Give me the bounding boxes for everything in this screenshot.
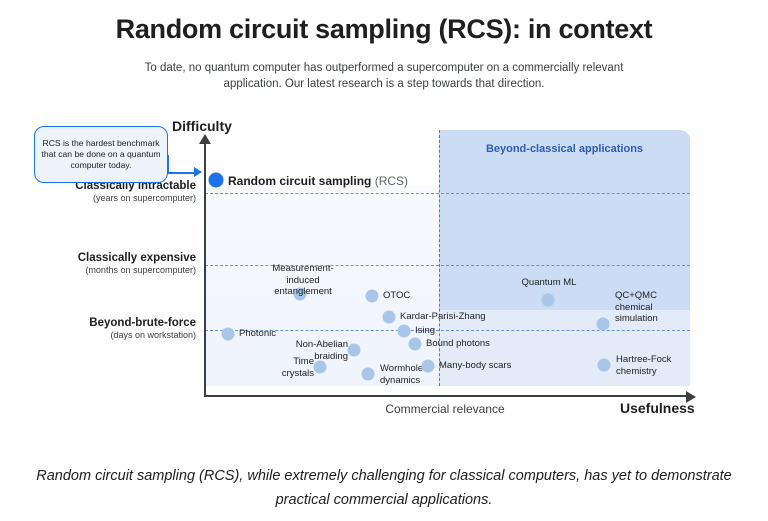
callout-arrow-icon <box>194 167 202 177</box>
data-point-label: OTOC <box>383 290 433 302</box>
data-point-label: Photonic <box>239 328 299 340</box>
y-tier-2-sublabel: (days on workstation) <box>0 330 196 340</box>
data-point-label: Measurement-induced entanglement <box>258 263 348 298</box>
gridline-0 <box>205 193 690 194</box>
slide-root: Random circuit sampling (RCS): in contex… <box>0 0 768 521</box>
figure-caption: Random circuit sampling (RCS), while ext… <box>24 464 744 512</box>
data-point[interactable] <box>422 360 435 373</box>
callout-connector-horizontal <box>168 172 196 174</box>
data-point[interactable] <box>598 359 611 372</box>
callout-box: RCS is the hardest benchmark that can be… <box>34 126 168 183</box>
beyond-classical-label: Beyond-classical applications <box>439 143 690 155</box>
x-axis-line <box>204 395 688 397</box>
y-tier-2: Beyond-brute-force(days on workstation) <box>0 317 196 340</box>
data-point-label: Quantum ML <box>518 277 580 289</box>
rcs-label-bold: Random circuit sampling <box>228 174 371 188</box>
y-tier-2-label: Beyond-brute-force <box>0 317 196 329</box>
page-title: Random circuit sampling (RCS): in contex… <box>0 14 768 45</box>
data-point-label: Bound photons <box>426 338 506 350</box>
callout-text: RCS is the hardest benchmark that can be… <box>35 138 167 171</box>
data-point[interactable] <box>314 361 327 374</box>
data-point-label: Time crystals <box>256 356 314 379</box>
data-point[interactable] <box>362 368 375 381</box>
y-axis-line <box>204 142 206 396</box>
y-tier-0-sublabel: (years on supercomputer) <box>0 193 196 203</box>
data-point-rcs[interactable] <box>209 173 224 188</box>
page-subtitle: To date, no quantum computer has outperf… <box>134 60 634 92</box>
data-point-label: QC+QMC chemical simulation <box>615 290 685 325</box>
data-point[interactable] <box>398 325 411 338</box>
y-tier-1-sublabel: (months on supercomputer) <box>0 265 196 275</box>
data-point-label: Hartree-Fock chemistry <box>616 354 686 377</box>
y-tier-1: Classically expensive(months on supercom… <box>0 252 196 275</box>
data-point[interactable] <box>366 290 379 303</box>
x-axis-title: Usefulness <box>620 400 695 416</box>
data-point-label: Ising <box>415 325 455 337</box>
data-point[interactable] <box>222 328 235 341</box>
data-point[interactable] <box>409 338 422 351</box>
rcs-label-plain: (RCS) <box>375 174 408 188</box>
x-axis-mid-label: Commercial relevance <box>320 402 570 416</box>
y-axis-arrow-icon <box>199 134 211 144</box>
data-point[interactable] <box>383 311 396 324</box>
chart-container: Beyond-classical applications Difficulty… <box>0 110 768 420</box>
y-tier-1-label: Classically expensive <box>0 252 196 264</box>
y-axis-title: Difficulty <box>172 118 232 134</box>
data-point[interactable] <box>542 294 555 307</box>
y-tier-0: Classically intractable(years on superco… <box>0 180 196 203</box>
data-point-label: Many-body scars <box>439 360 529 372</box>
data-point[interactable] <box>597 318 610 331</box>
data-point-rcs-label: Random circuit sampling (RCS) <box>228 174 408 188</box>
data-point[interactable] <box>348 344 361 357</box>
data-point-label: Kardar-Parisi-Zhang <box>400 311 500 323</box>
